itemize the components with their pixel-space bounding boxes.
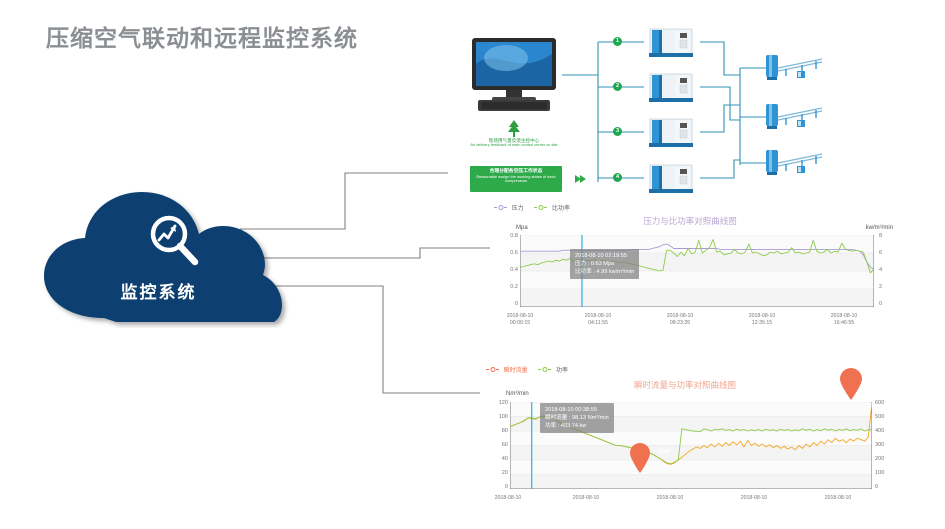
slide-canvas: 压缩空气联动和远程监控系统 监控系统 <box>0 0 945 529</box>
air-tank-1[interactable] <box>764 51 826 85</box>
chart2-tooltip-time: 2018-08-10 00:38:55 <box>545 406 609 414</box>
legend-item-pressure[interactable]: 压力 <box>494 203 524 213</box>
chart2-tooltip-line-0: 瞬时流量 : 98.13 Nm³/min <box>545 414 609 422</box>
chart1-legend[interactable]: 压力 比功率 <box>494 203 579 213</box>
air-compressor-4[interactable] <box>648 162 694 195</box>
chart2-pin-high-value: 118.55 <box>864 374 890 380</box>
chart1-ytick-2: 0.4 <box>496 267 518 273</box>
legend-label-instant-flow: 瞬时流量 <box>504 368 528 374</box>
chart1-ytick-0: 0.8 <box>496 233 518 239</box>
chart1-xtick-3: 2018-08-1012:35:15 <box>734 313 790 326</box>
chart2-y2tick-6: 0 <box>875 484 893 490</box>
chart2-y2tick-3: 300 <box>875 442 893 448</box>
air-tank-2[interactable] <box>764 100 826 134</box>
chart2-xtick-3: 2018-08-10 <box>726 495 782 502</box>
legend-item-instant-flow[interactable]: 瞬时流量 <box>486 365 528 375</box>
flow-power-chart-panel[interactable]: 瞬时流量 功率 瞬时流量与功率对照曲线图 Nm³/min 120 100 80 … <box>480 365 895 529</box>
node-indicator-1[interactable]: 1 <box>613 37 622 46</box>
chart1-tooltip-time: 2018-08-10 02:19:55 <box>575 252 634 260</box>
chart1-ytick-4: 0 <box>496 301 518 307</box>
chart1-title: 压力与比功率对照曲线图 <box>600 215 780 227</box>
chart2-y-unit: Nm³/min <box>506 391 529 397</box>
node-indicator-2[interactable]: 2 <box>613 82 622 91</box>
chart2-ytick-4: 40 <box>484 456 508 462</box>
chart2-xtick-1: 2018-08-10 <box>558 495 614 502</box>
monitoring-cloud[interactable]: 监控系统 <box>36 186 298 328</box>
chart2-title: 瞬时流量与功率对照曲线图 <box>590 379 780 391</box>
chart2-pin-high[interactable]: 118.55 <box>838 368 864 400</box>
chart2-tooltip-line-1: 功率 : 493.74 kw <box>545 422 609 430</box>
legend-label-power: 功率 <box>556 368 568 374</box>
chart1-y2tick-0: 8 <box>879 233 893 239</box>
chart2-y2tick-5: 100 <box>875 470 893 476</box>
node-indicator-4[interactable]: 4 <box>613 173 622 182</box>
air-tank-3[interactable] <box>764 146 826 180</box>
chart2-ytick-2: 80 <box>484 428 508 434</box>
node-indicator-3[interactable]: 3 <box>613 127 622 136</box>
chart2-tooltip: 2018-08-10 00:38:55 瞬时流量 : 98.13 Nm³/min… <box>540 403 614 433</box>
chart1-tooltip-line-0: 压力 : 0.63 Mpa <box>575 260 634 268</box>
chart1-y2tick-3: 2 <box>879 284 893 290</box>
air-compressor-1[interactable] <box>648 26 694 59</box>
chart2-ytick-3: 60 <box>484 442 508 448</box>
chart1-xtick-4: 2018-08-1016:46:55 <box>816 313 872 326</box>
system-diagram-panel[interactable]: 现场用气量反馈主控中心 Air delivery feedback of mai… <box>448 20 934 200</box>
chart1-y-unit: Mpa <box>516 225 528 231</box>
legend-item-specific-power[interactable]: 比功率 <box>534 203 570 213</box>
chart1-y2tick-2: 4 <box>879 267 893 273</box>
cloud-label: 监控系统 <box>36 278 281 303</box>
chart2-pin-low[interactable]: 33.87 <box>628 443 652 473</box>
chart1-xtick-2: 2018-08-1008:23:35 <box>652 313 708 326</box>
chart1-y2-unit: kw/m³/min <box>866 225 893 231</box>
chart2-y2tick-4: 200 <box>875 456 893 462</box>
air-compressor-3[interactable] <box>648 116 694 149</box>
chart1-ytick-1: 0.6 <box>496 250 518 256</box>
chart2-xtick-4: 2018-08-10 <box>810 495 866 502</box>
chart2-xtick-2: 2018-08-10 <box>642 495 698 502</box>
legend-item-power[interactable]: 功率 <box>538 365 568 375</box>
chart2-legend[interactable]: 瞬时流量 功率 <box>486 365 577 375</box>
magnifier-chart-icon <box>146 212 202 268</box>
chart2-y2tick-0: 600 <box>875 400 893 406</box>
legend-marker-specific-power <box>534 204 548 213</box>
chart1-y2tick-4: 0 <box>879 301 893 307</box>
chart2-ytick-0: 120 <box>484 400 508 406</box>
chart1-ytick-3: 0.2 <box>496 284 518 290</box>
legend-label-pressure: 压力 <box>512 206 524 212</box>
legend-marker-power <box>538 366 552 375</box>
chart1-tooltip: 2018-08-10 02:19:55 压力 : 0.63 Mpa 比功率 : … <box>570 249 639 279</box>
chart2-ytick-5: 20 <box>484 470 508 476</box>
chart2-y2tick-2: 400 <box>875 428 893 434</box>
chart2-y2tick-1: 500 <box>875 414 893 420</box>
chart1-xtick-1: 2018-08-1004:11:55 <box>570 313 626 326</box>
legend-marker-instant-flow <box>486 366 500 375</box>
chart2-ytick-1: 100 <box>484 414 508 420</box>
chart1-xtick-0: 2018-08-1000:00:15 <box>492 313 548 326</box>
chart1-tooltip-line-1: 比功率 : 4.99 kw/m³/min <box>575 268 634 276</box>
chart1-y2tick-1: 6 <box>879 250 893 256</box>
pressure-power-chart-panel[interactable]: 压力 比功率 压力与比功率对照曲线图 Mpa kw/m³/min 0.8 0.6… <box>490 203 895 333</box>
legend-label-specific-power: 比功率 <box>552 206 570 212</box>
chart2-pin-low-value: 33.87 <box>652 449 676 455</box>
chart2-xtick-0: 2018-08-10 <box>480 495 536 502</box>
chart2-ytick-6: 0 <box>484 484 508 490</box>
legend-marker-pressure <box>494 204 508 213</box>
air-compressor-2[interactable] <box>648 71 694 104</box>
